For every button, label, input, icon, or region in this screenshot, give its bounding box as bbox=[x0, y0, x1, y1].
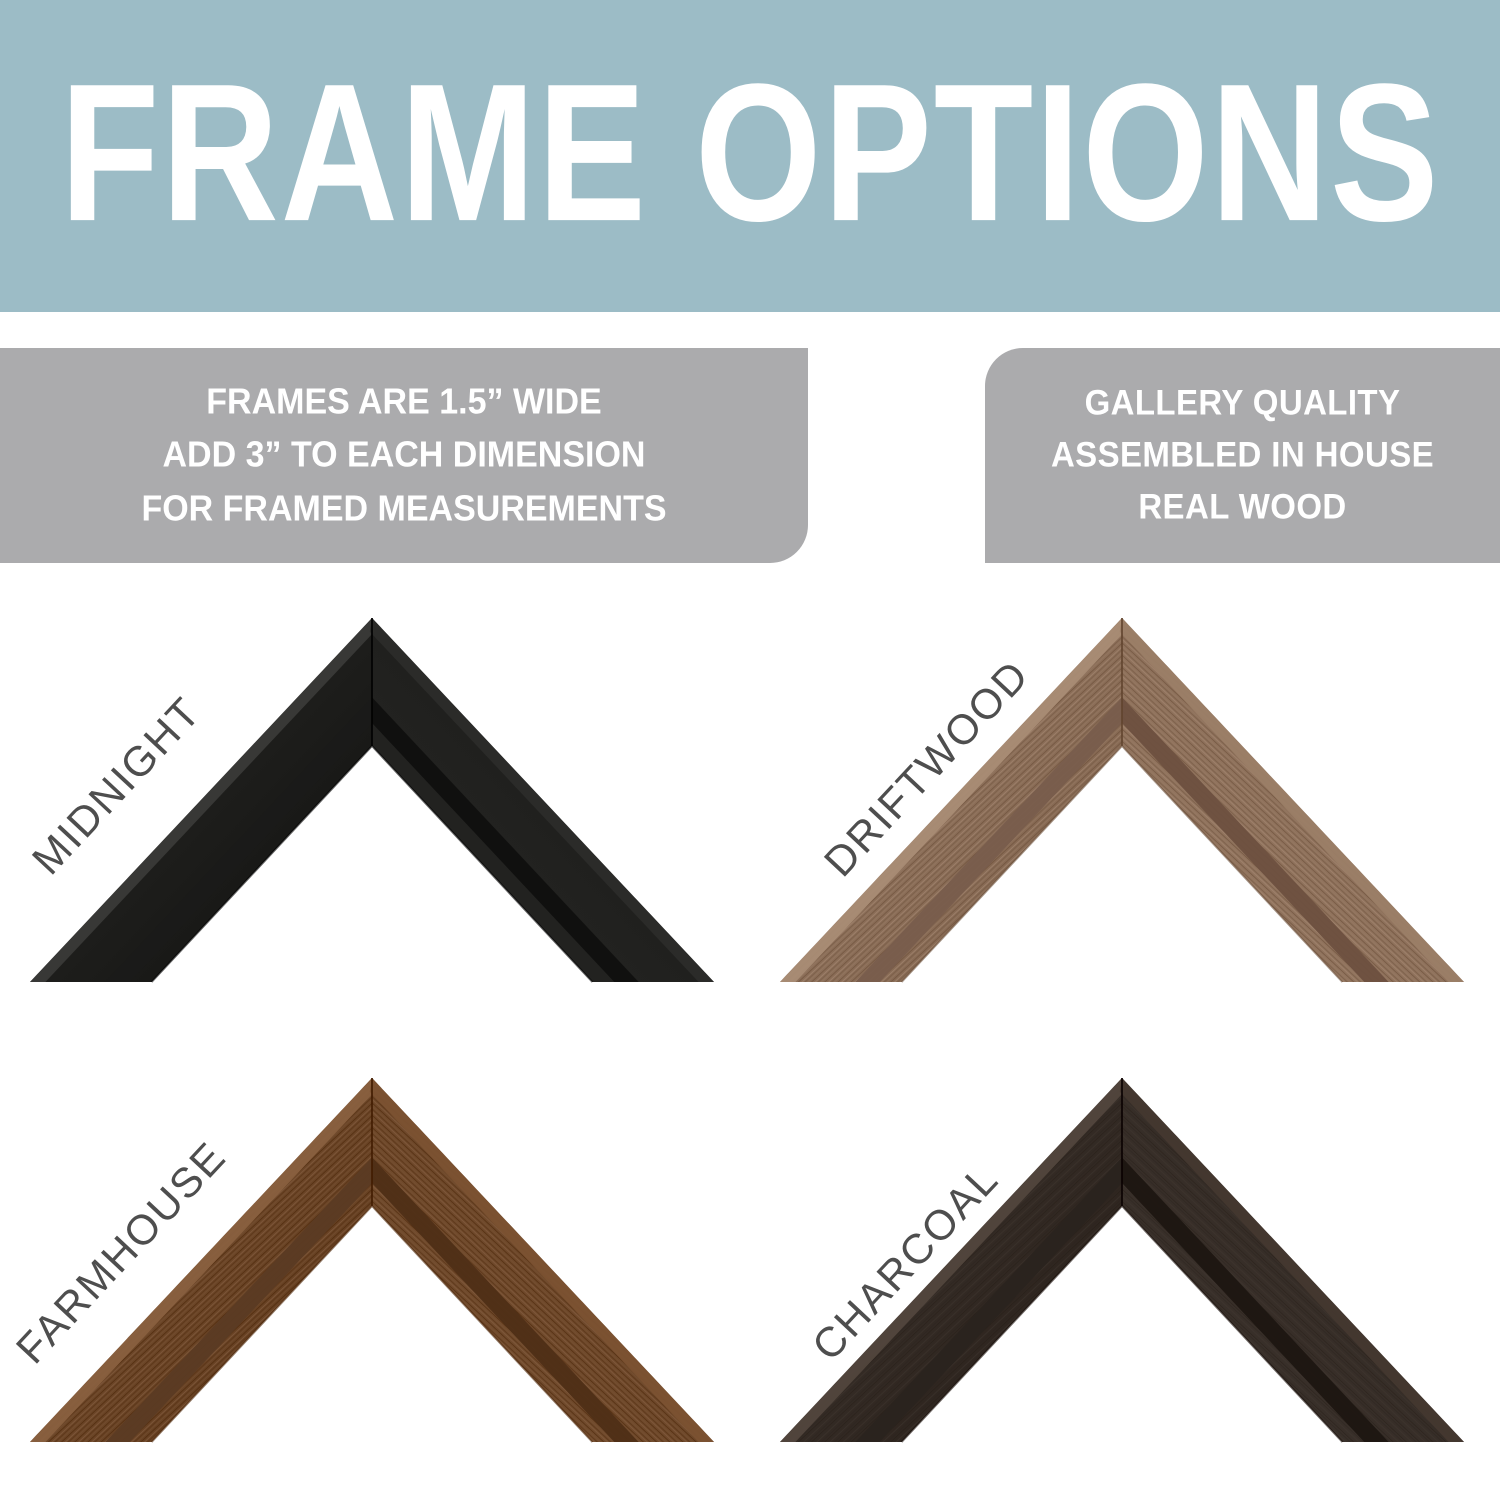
frame-options-grid: MIDNIGHT DRIFTWOOD FARMHOUSE CHARCOAL bbox=[0, 580, 1500, 1500]
info-line: GALLERY QUALITY bbox=[1051, 378, 1434, 430]
info-line: FRAMES ARE 1.5” WIDE bbox=[141, 376, 666, 429]
info-line: ADD 3” TO EACH DIMENSION bbox=[141, 429, 666, 482]
info-line: FOR FRAMED MEASUREMENTS bbox=[141, 482, 666, 535]
info-line: ASSEMBLED IN HOUSE bbox=[1051, 430, 1434, 482]
frame-option-charcoal[interactable] bbox=[750, 1040, 1500, 1500]
page-title: FRAME OPTIONS bbox=[60, 55, 1440, 251]
info-box-quality: GALLERY QUALITY ASSEMBLED IN HOUSE REAL … bbox=[985, 348, 1500, 563]
info-line: REAL WOOD bbox=[1051, 481, 1434, 533]
info-box-measurements: FRAMES ARE 1.5” WIDE ADD 3” TO EACH DIME… bbox=[0, 348, 808, 563]
header-banner: FRAME OPTIONS bbox=[0, 0, 1500, 312]
info-box-measurements-text: FRAMES ARE 1.5” WIDE ADD 3” TO EACH DIME… bbox=[141, 376, 666, 536]
info-box-quality-text: GALLERY QUALITY ASSEMBLED IN HOUSE REAL … bbox=[1051, 378, 1434, 533]
